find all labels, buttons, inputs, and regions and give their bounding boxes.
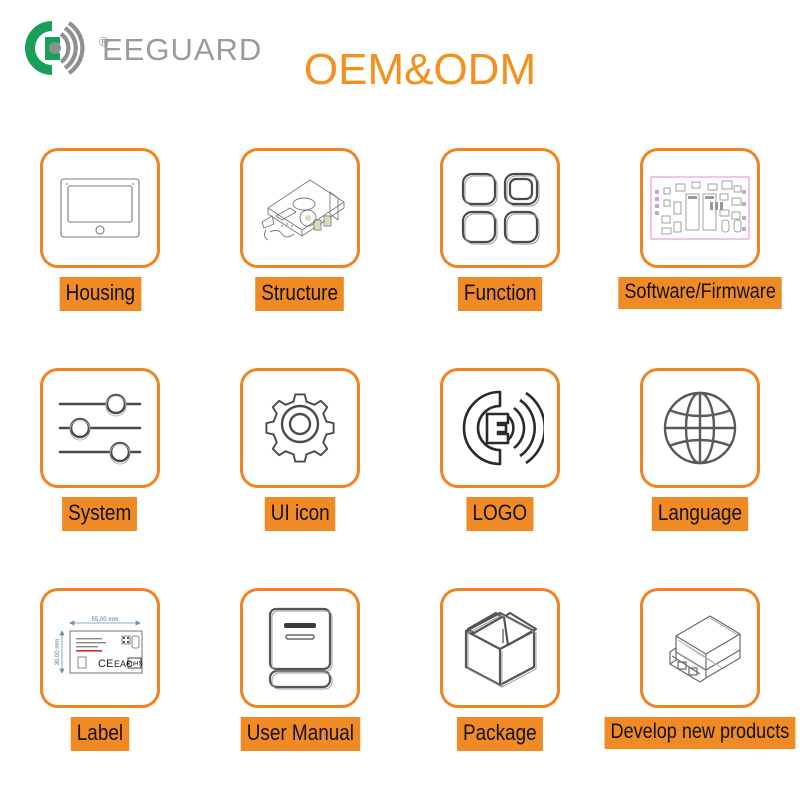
page-header: ® EEGUARD OEM&ODM [0, 0, 800, 130]
card-software-firmware[interactable] [640, 148, 760, 268]
eeguard-logo-outline-icon [456, 386, 544, 470]
grid-item-logo[interactable]: LOGO [400, 356, 600, 576]
manual-booklet-icon [264, 605, 336, 691]
card-ui-icon[interactable] [240, 368, 360, 488]
label-user-manual: User Manual [240, 717, 359, 751]
card-structure[interactable] [240, 148, 360, 268]
grid-item-housing[interactable]: Housing [0, 136, 200, 356]
card-logo[interactable] [440, 368, 560, 488]
grid-item-label[interactable]: 55.00 mm 30.00 mm CE EAC [0, 576, 200, 796]
product-label-icon: 55.00 mm 30.00 mm CE EAC [48, 611, 152, 685]
label-housing: Housing [59, 277, 140, 311]
grid-item-software-firmware[interactable]: Software/Firmware [600, 136, 800, 356]
card-function[interactable] [440, 148, 560, 268]
globe-grid-icon [658, 386, 742, 470]
label-package: Package [457, 717, 543, 751]
grid-item-function[interactable]: Function [400, 136, 600, 356]
grid-item-structure[interactable]: Structure [200, 136, 400, 356]
carton-box-icon [456, 607, 544, 689]
label-software-firmware: Software/Firmware [618, 277, 782, 309]
gear-icon [258, 386, 342, 470]
label-develop-new-products: Develop new products [605, 717, 796, 749]
ce-mark: CE [98, 658, 113, 670]
card-label[interactable]: 55.00 mm 30.00 mm CE EAC [40, 588, 160, 708]
pcb-board-icon [648, 172, 752, 244]
tablet-housing-icon [57, 171, 143, 245]
rohs-mark: RoHS [126, 662, 142, 668]
grid-item-language[interactable]: Language [600, 356, 800, 576]
grid-item-user-manual[interactable]: User Manual [200, 576, 400, 796]
card-package[interactable] [440, 588, 560, 708]
label-function: Function [458, 277, 543, 311]
label-ui-icon: UI icon [265, 497, 336, 531]
label-label: Label [71, 717, 129, 751]
label-language: Language [652, 497, 748, 531]
din-rail-device-icon [652, 608, 748, 688]
card-user-manual[interactable] [240, 588, 360, 708]
grid-item-system[interactable]: System [0, 356, 200, 576]
label-height-dim: 30.00 mm [55, 639, 61, 666]
label-system: System [62, 497, 137, 531]
capability-grid: Housing [0, 136, 800, 800]
label-width-dim: 55.00 mm [92, 617, 119, 623]
grid-item-package[interactable]: Package [400, 576, 600, 796]
label-logo: LOGO [467, 497, 534, 531]
card-language[interactable] [640, 368, 760, 488]
grid-item-ui-icon[interactable]: UI icon [200, 356, 400, 576]
four-rounded-squares-icon [457, 168, 543, 248]
card-system[interactable] [40, 368, 160, 488]
grid-item-develop-new-products[interactable]: Develop new products [600, 576, 800, 796]
cad-exploded-structure-icon [252, 168, 348, 248]
card-housing[interactable] [40, 148, 160, 268]
sliders-icon [54, 390, 146, 466]
page-title: OEM&ODM [0, 45, 800, 95]
label-structure: Structure [256, 277, 345, 311]
card-develop-new-products[interactable] [640, 588, 760, 708]
